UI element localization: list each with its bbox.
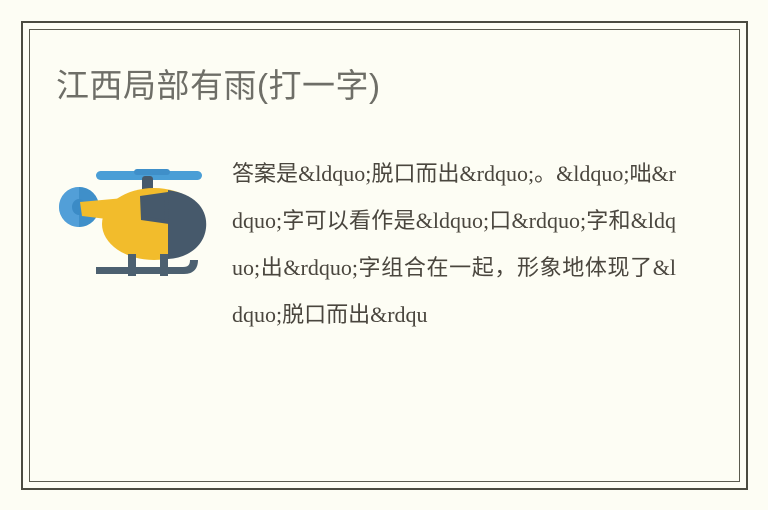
article-content: 答案是&ldquo;脱口而出&rdquo;。&ldquo;咄&rdquo;字可以… bbox=[56, 150, 676, 338]
page-title: 江西局部有雨(打一字) bbox=[56, 64, 380, 108]
helicopter-icon bbox=[56, 158, 216, 286]
page-root: 江西局部有雨(打一字) bbox=[0, 0, 768, 510]
illustration-container bbox=[56, 150, 226, 286]
article-body: 答案是&ldquo;脱口而出&rdquo;。&ldquo;咄&rdquo;字可以… bbox=[232, 150, 676, 338]
